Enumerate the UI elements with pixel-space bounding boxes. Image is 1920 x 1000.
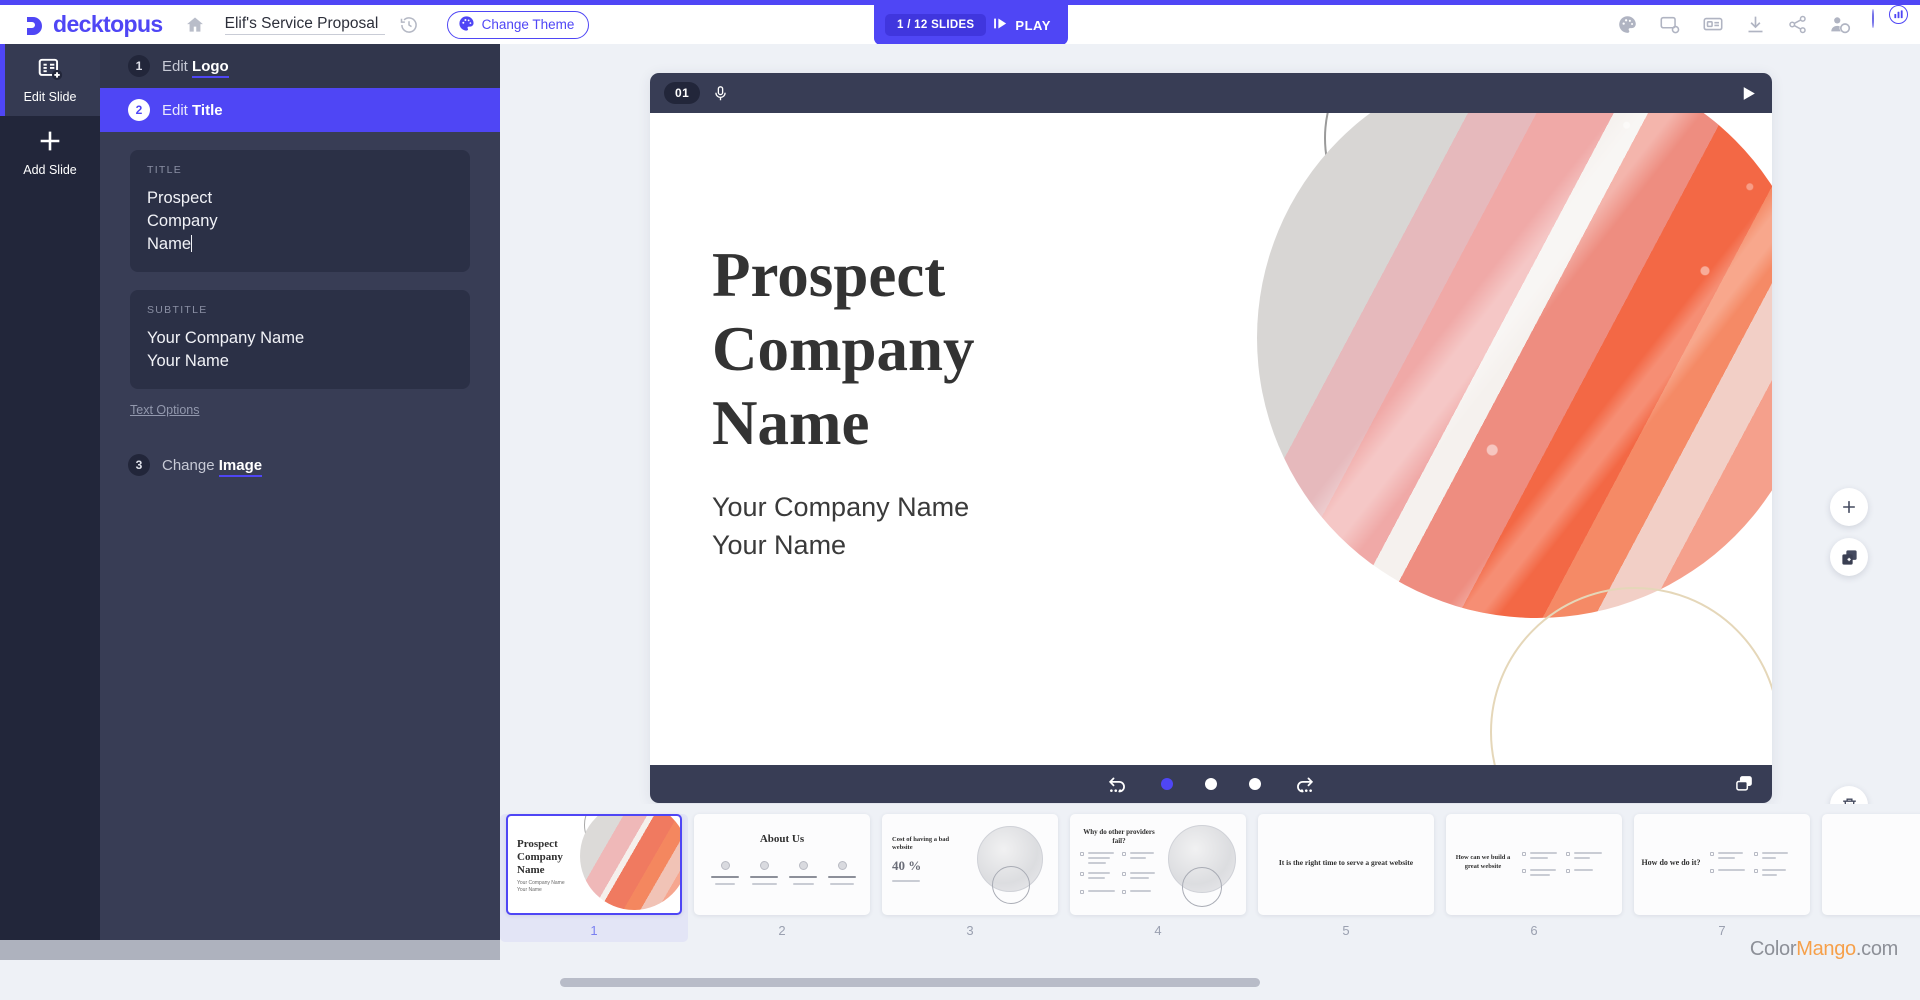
play-label: PLAY [1015,18,1050,33]
thumbnail-slide-2[interactable]: About Us [694,814,870,915]
layout-variant-dot-3[interactable] [1249,778,1261,790]
palette-icon [458,15,475,35]
thumbnail-scrollbar-handle[interactable] [560,978,1260,987]
add-user-icon[interactable] [1829,14,1851,36]
presentation-icon[interactable] [1702,14,1724,36]
slide-editor-frame: 01 Prospect Company Name Your Company Na… [650,73,1772,803]
step-action: Change [162,457,215,474]
watermark-part-3: .com [1856,938,1898,960]
thumbnail-slide-1[interactable]: Prospect Company Name Your Company Name … [506,814,682,915]
thumbnail-slide-5[interactable]: It is the right time to serve a great we… [1258,814,1434,915]
step-target: Image [219,457,262,477]
thumbnail-number: 4 [1154,923,1161,938]
editor-canvas-area: 01 Prospect Company Name Your Company Na… [500,44,1920,804]
thumbnail-track: Prospect Company Name Your Company Name … [500,814,1920,942]
screen-settings-icon[interactable] [1659,14,1681,36]
app-logo[interactable]: decktopus [24,11,163,38]
feature-icon [838,861,847,870]
top-navigation-bar: decktopus Change Theme 1 / 12 SLIDES [0,5,1920,44]
slide-toolbar-top: 01 [650,73,1772,113]
title-input[interactable]: Prospect Company Name [147,187,453,256]
step-edit-logo[interactable]: 1 Edit Logo [100,44,500,88]
decktopus-mark-icon [24,14,46,36]
slide-canvas[interactable]: Prospect Company Name Your Company Name … [650,113,1772,765]
subtitle-field-label: SUBTITLE [147,304,453,316]
layout-variant-dot-1[interactable] [1161,778,1173,790]
rail-item-add-slide[interactable]: Add Slide [0,116,100,188]
avatar-image [1872,9,1874,28]
slide-decorative-artwork [1212,113,1772,765]
rail-item-label: Add Slide [23,163,77,177]
step-action: Edit [162,102,188,119]
feature-icon [721,861,730,870]
change-theme-button[interactable]: Change Theme [447,11,590,39]
avatar[interactable] [1872,10,1902,40]
step-number: 3 [128,454,150,476]
slide-title-text[interactable]: Prospect Company Name [712,238,975,460]
thumb-title: It is the right time to serve a great we… [1270,858,1422,868]
watermark-part-2: Mango [1796,938,1856,960]
title-field-label: TITLE [147,164,453,176]
step-label: Edit Title [162,102,223,119]
step-target: Title [192,102,223,119]
play-controls: 1 / 12 SLIDES PLAY [874,5,1068,45]
thumbnail-cell[interactable] [1816,814,1920,942]
thumb-title: Cost of having a bad website [892,836,964,852]
layout-variant-dot-2[interactable] [1205,778,1217,790]
thumbnail-slide-8[interactable] [1822,814,1920,915]
step-label: Edit Logo [162,58,229,75]
play-button[interactable]: PLAY [992,15,1056,35]
app-logo-text: decktopus [53,11,163,38]
thumb-title: How do we do it? [1640,858,1702,867]
thumbnail-slide-7[interactable]: How do we do it? [1634,814,1810,915]
duplicate-slide-icon[interactable] [1734,774,1754,794]
thumb-title: Prospect Company Name [517,838,563,877]
thumbnail-cell[interactable]: How do we do it? 7 [1628,814,1816,942]
edit-slide-icon [37,56,63,85]
thumb-stat-value: 40 % [892,858,921,874]
history-icon[interactable] [399,15,419,35]
thumbnail-number: 3 [966,923,973,938]
slide-toolbar-bottom [650,765,1772,803]
abstract-image-circle[interactable] [1257,113,1772,618]
thumbnail-slide-4[interactable]: Why do other providers fail? [1070,814,1246,915]
step-action: Edit [162,58,188,75]
thumb-title: Why do other providers fail? [1080,828,1158,845]
undo-icon[interactable] [1107,774,1128,795]
add-slide-button[interactable] [1830,488,1868,526]
step-label: Change Image [162,457,262,474]
slide-subtitle-text[interactable]: Your Company Name Your Name [712,488,969,564]
step-number: 2 [128,99,150,121]
step-edit-title[interactable]: 2 Edit Title [100,88,500,132]
thumbnail-cell[interactable]: Why do other providers fail? [1064,814,1252,942]
slide-number-chip: 01 [664,82,700,104]
thumbnail-slide-3[interactable]: Cost of having a bad website 40 % [882,814,1058,915]
watermark-part-1: Color [1750,938,1796,960]
document-title-input[interactable] [225,15,385,35]
thumb-title: How can we build a great website [1452,854,1514,871]
step-change-image[interactable]: 3 Change Image [100,443,500,487]
play-triangle-icon [992,15,1009,35]
plus-icon [36,127,64,158]
thumb-title: About Us [694,834,870,844]
rail-item-label: Edit Slide [24,90,77,104]
thumbnail-slide-6[interactable]: How can we build a great website [1446,814,1622,915]
topbar-actions [1617,10,1902,40]
share-icon[interactable] [1787,14,1808,35]
abstract-image-thumb [580,814,682,910]
thumb-subtitle: Your Company Name Your Name [517,880,565,894]
feature-icon [799,861,808,870]
home-icon[interactable] [185,15,205,35]
download-icon[interactable] [1745,14,1766,35]
thumbnail-scrollbar-track[interactable] [500,975,1920,989]
slide-counter: 1 / 12 SLIDES [885,14,986,36]
rail-active-indicator [0,44,5,116]
step-target: Logo [192,58,229,78]
decorative-ring-icon [1182,867,1222,907]
title-field-card: TITLE Prospect Company Name [130,150,470,272]
thumbnail-cell[interactable]: Cost of having a bad website 40 % 3 [876,814,1064,942]
rail-item-edit-slide[interactable]: Edit Slide [0,44,100,116]
microphone-icon[interactable] [712,85,729,102]
thumbnail-cell[interactable]: It is the right time to serve a great we… [1252,814,1440,942]
chart-badge-icon [1889,5,1908,24]
thumbnail-number: 7 [1718,923,1725,938]
left-icon-rail: Edit Slide Add Slide [0,44,100,956]
thumbnail-number: 5 [1342,923,1349,938]
feature-icon [760,861,769,870]
palette-icon[interactable] [1617,14,1638,35]
decorative-ring-icon [992,866,1030,904]
text-options-link[interactable]: Text Options [130,403,199,417]
thumbnail-number: 6 [1530,923,1537,938]
thumbnail-number: 2 [778,923,785,938]
redo-icon[interactable] [1294,774,1315,795]
slide-thumbnail-strip[interactable]: Prospect Company Name Your Company Name … [500,804,1920,1000]
thumbnail-number: 1 [590,923,597,938]
preview-play-icon[interactable] [1739,84,1758,103]
subtitle-field-card: SUBTITLE Your Company Name Your Name [130,290,470,389]
step-number: 1 [128,55,150,77]
watermark: ColorMango.com [1750,938,1898,961]
thumbnail-cell[interactable]: About Us 2 [688,814,876,942]
thumbnail-cell[interactable]: Prospect Company Name Your Company Name … [500,814,688,942]
thumbnail-cell[interactable]: How can we build a great website 6 [1440,814,1628,942]
panel-horizontal-scrollbar[interactable] [0,940,500,960]
duplicate-slide-button[interactable] [1830,538,1868,576]
subtitle-input[interactable]: Your Company Name Your Name [147,327,453,373]
change-theme-label: Change Theme [482,17,575,32]
step-panel: 1 Edit Logo 2 Edit Title TITLE Prospect … [100,44,500,956]
